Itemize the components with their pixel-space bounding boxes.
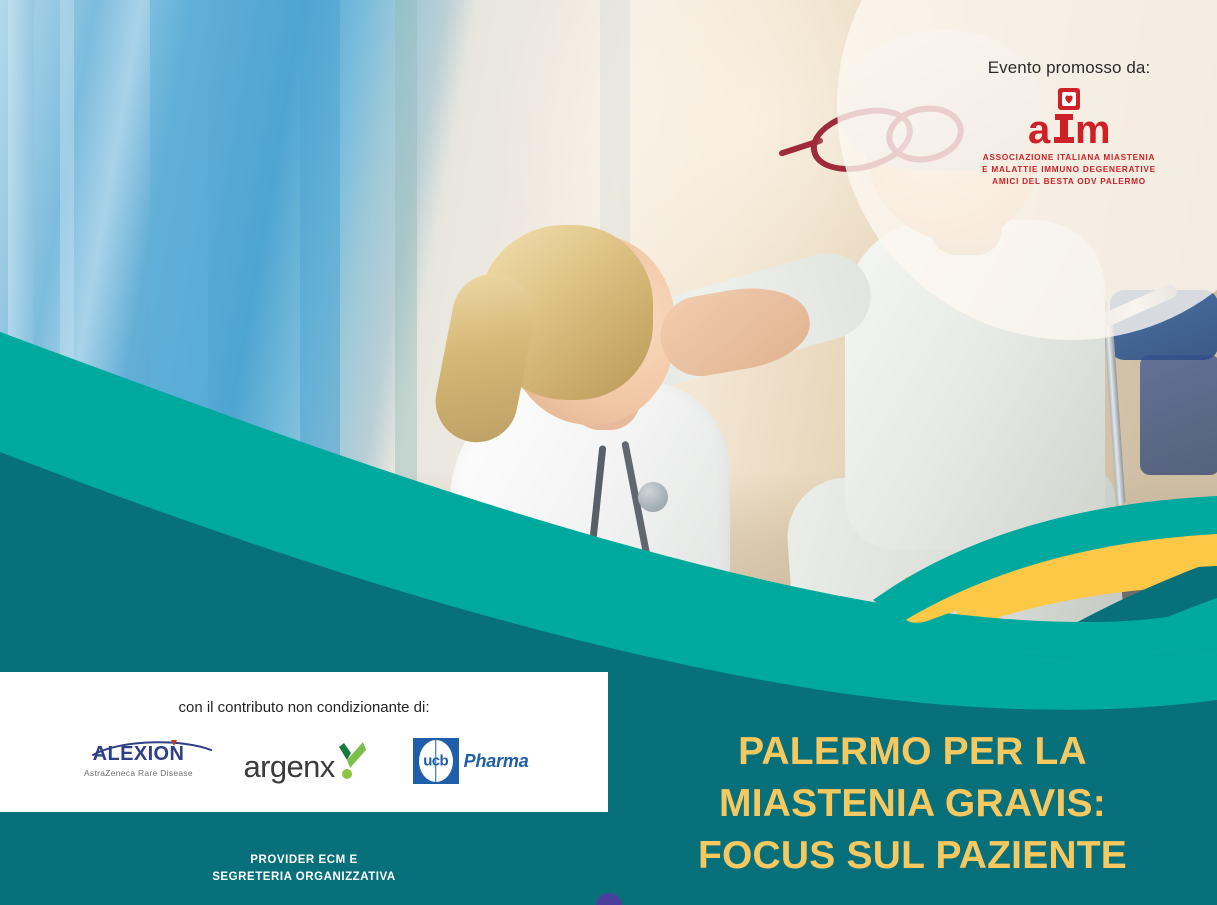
ucb-letters: ucb [423,753,448,770]
provider-line-2: SEGRETERIA ORGANIZZATIVA [0,869,608,886]
provider-logo-mark [596,893,622,905]
stethoscope-chestpiece [638,482,668,512]
alexion-tick-icon [171,740,177,746]
alexion-swoosh-icon [91,741,213,757]
svg-text:m: m [1075,108,1110,146]
alexion-wordmark: ALEXION [93,744,185,764]
nurse-figure [420,200,750,680]
aim-subtitle-line-1: ASSOCIAZIONE ITALIANA MIASTENIA [949,152,1189,164]
aim-subtitle: ASSOCIAZIONE ITALIANA MIASTENIA E MALATT… [949,152,1189,188]
sponsor-panel: con il contributo non condizionante di: … [0,672,608,812]
event-promoter-block: Evento promosso da: a m ASSOCIAZIONE ITA… [949,58,1189,188]
alexion-logo: ALEXION AstraZeneca Rare Disease [79,744,197,778]
title-line-1: PALERMO PER LA [608,726,1217,778]
argenx-wordmark: argenx [243,752,334,781]
ucb-pharma-logo: ucb Pharma [413,738,529,784]
aim-subtitle-line-3: AMICI DEL BESTA ODV PALERMO [949,176,1189,188]
ucb-mark-icon: ucb [413,738,459,784]
page-title: PALERMO PER LA MIASTENIA GRAVIS: FOCUS S… [608,726,1217,882]
promoter-label: Evento promosso da: [949,58,1189,78]
svg-text:a: a [1028,108,1051,146]
aim-logo-icon: a m [1026,88,1112,146]
argenx-check-icon [337,741,367,781]
title-line-2: MIASTENIA GRAVIS: [608,778,1217,830]
title-line-3: FOCUS SUL PAZIENTE [608,830,1217,882]
sponsor-logo-row: ALEXION AstraZeneca Rare Disease argenx [0,738,608,784]
ucb-pharma-text: Pharma [464,751,529,772]
provider-line-1: PROVIDER ECM E [0,852,608,869]
provider-block: PROVIDER ECM E SEGRETERIA ORGANIZZATIVA [0,852,608,885]
alexion-tagline: AstraZeneca Rare Disease [79,768,197,778]
event-poster: Evento promosso da: a m ASSOCIAZIONE ITA… [0,0,1217,905]
ucb-oval: ucb [419,740,453,782]
argenx-logo: argenx [243,741,366,781]
sponsor-panel-title: con il contributo non condizionante di: [0,699,608,716]
nurse-hair [478,225,653,400]
aim-subtitle-line-2: E MALATTIE IMMUNO DEGENERATIVE [949,164,1189,176]
